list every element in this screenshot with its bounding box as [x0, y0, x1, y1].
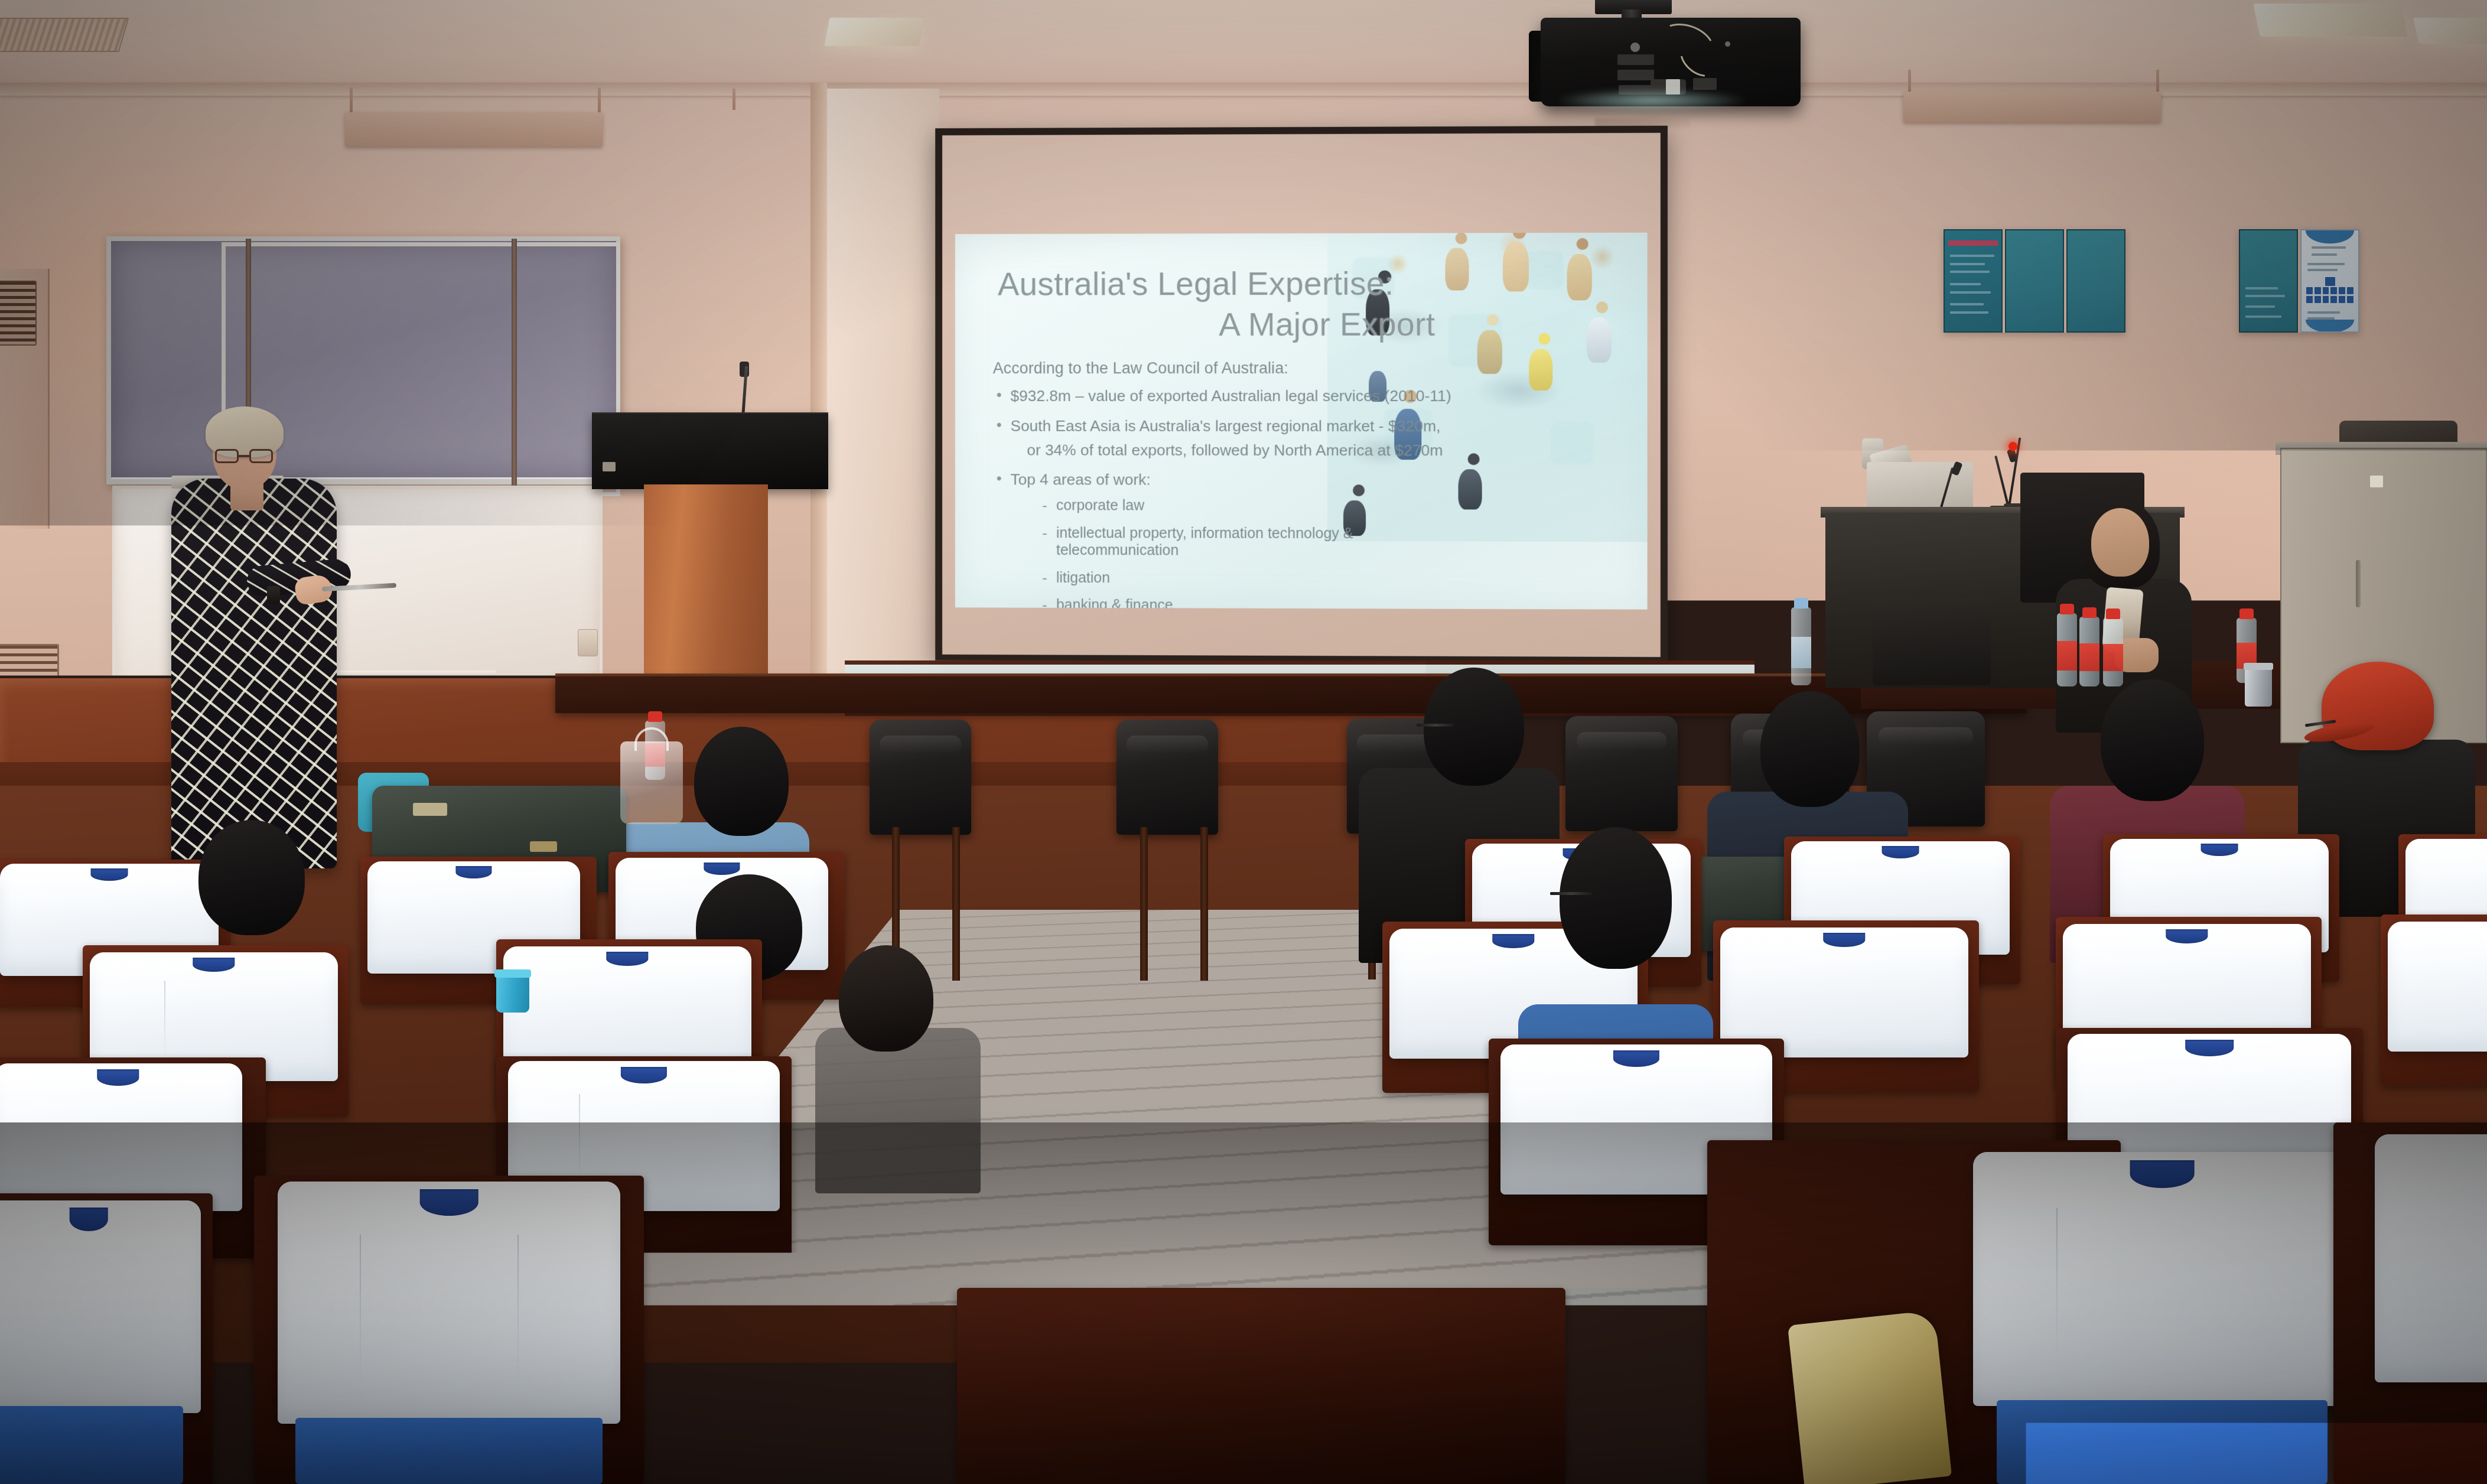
hanging-light-left	[345, 112, 603, 147]
ceiling-light-panel-right	[2253, 4, 2408, 37]
audience-dark-glasses	[1417, 724, 1454, 727]
seat-back-panel-center	[957, 1288, 1565, 1484]
poster-panel-3	[2066, 229, 2125, 333]
water-bottle-1[interactable]	[1791, 607, 1811, 685]
cabinet-label	[2370, 476, 2383, 487]
seat-cover-m4[interactable]	[1720, 927, 1968, 1057]
whiteboard-secondary-frame	[222, 242, 620, 496]
light-rod-b	[598, 87, 601, 115]
seated-host-head	[2091, 508, 2149, 577]
desk-microphone-led	[2009, 442, 2017, 451]
gold-paper-bag[interactable]	[1788, 1310, 1952, 1484]
slide-sub-item-4: banking & finance	[1041, 597, 1463, 610]
slide-title-line-1: Australia's Legal Expertise:	[998, 265, 1394, 302]
leather-chair-leg-2b	[1200, 827, 1208, 981]
slide-title-line-2: A Major Export	[998, 304, 1454, 346]
presenter-wristwatch	[267, 586, 280, 604]
lecture-hall-scene: Australia's Legal Expertise: A Major Exp…	[0, 0, 2487, 1484]
av-equipment-box	[1873, 597, 1991, 685]
presenter-glasses	[215, 449, 273, 464]
slide-intro-text: According to the Law Council of Australi…	[993, 359, 1449, 377]
projection-screen: Australia's Legal Expertise: A Major Exp…	[935, 126, 1668, 663]
air-conditioner-unit	[0, 269, 50, 529]
projection-screen-surface: Australia's Legal Expertise: A Major Exp…	[942, 133, 1661, 657]
ceiling	[0, 0, 2487, 89]
poster-group-right	[2239, 229, 2359, 333]
leather-chair-1[interactable]	[870, 720, 971, 835]
seat-cover-n1[interactable]	[0, 1063, 242, 1211]
water-bottle-2[interactable]	[2057, 613, 2077, 686]
wall-socket-left[interactable]	[578, 629, 598, 656]
slide-sub-list: corporate law intellectual property, inf…	[1041, 497, 1463, 610]
light-rod-e	[1908, 70, 1911, 93]
slide-bullet-2-text: South East Asia is Australia's largest r…	[1010, 416, 1440, 434]
water-bottle-3[interactable]	[2079, 617, 2099, 686]
poster-panel-4	[2239, 229, 2298, 333]
poster-panel-5	[2300, 229, 2359, 333]
presentation-slide: Australia's Legal Expertise: A Major Exp…	[955, 233, 1648, 610]
leather-chair-2[interactable]	[1116, 720, 1218, 835]
light-rod-c	[733, 89, 735, 110]
leather-chair-leg-1b	[952, 827, 960, 981]
leather-chair-4[interactable]	[1565, 716, 1678, 831]
poster-panel-1	[1944, 229, 2003, 333]
seat-cover-g1[interactable]	[0, 1200, 201, 1413]
ceiling-light-panel-left	[825, 18, 924, 46]
cabinet-handle[interactable]	[2356, 560, 2361, 607]
projector-port-power	[1693, 78, 1717, 90]
hanging-light-right	[1903, 92, 2161, 122]
wall-column	[827, 89, 939, 679]
slide-sub-item-2: intellectual property, information techn…	[1041, 525, 1463, 560]
slide-sub-item-3: litigation	[1041, 569, 1463, 588]
seat-cushion-g1	[0, 1406, 183, 1484]
audience-navy-head	[1760, 691, 1860, 807]
seat-cushion-g2	[295, 1418, 603, 1484]
seat-cover-m6[interactable]	[2388, 922, 2487, 1052]
slide-bullet-3-text: Top 4 areas of work:	[1010, 471, 1150, 489]
projector-port-hdmi	[1617, 70, 1654, 80]
audience-blue-head	[1560, 827, 1672, 969]
podium-badge	[603, 462, 616, 471]
slide-bullet-3: Top 4 areas of work: corporate law intel…	[993, 471, 1463, 610]
projector-light-beam	[1554, 89, 1749, 112]
slide-bullet-2-continuation: or 34% of total exports, followed by Nor…	[1010, 435, 1462, 460]
ac-vent-upper	[0, 281, 37, 346]
plastic-bag[interactable]	[620, 741, 683, 824]
slide-title: Australia's Legal Expertise: A Major Exp…	[998, 263, 1454, 345]
audience-maroon-head	[2101, 679, 2204, 801]
audience-grey-head	[839, 945, 933, 1052]
seat-cushion-g3	[1997, 1400, 2328, 1484]
water-bottle-4[interactable]	[2103, 618, 2123, 686]
slide-bullet-2: South East Asia is Australia's largest r…	[993, 416, 1463, 460]
slide-bullet-list: $932.8m – value of exported Australian l…	[993, 387, 1463, 609]
metal-tumbler[interactable]	[2245, 668, 2272, 707]
poster-panel-2	[2005, 229, 2064, 333]
slide-bullet-1-text: $932.8m – value of exported Australian l…	[1010, 387, 1451, 405]
presenter-dress	[171, 479, 337, 868]
seat-cover-g3[interactable]	[1973, 1152, 2351, 1406]
audience-grey-body	[815, 1028, 981, 1193]
blue-drink-cup[interactable]	[496, 975, 529, 1013]
poster-icon-grid	[2306, 287, 2354, 303]
podium-column	[644, 484, 768, 703]
slide-sub-item-1: corporate law	[1041, 497, 1463, 516]
light-rod-a	[350, 87, 353, 115]
podium-desktop	[592, 414, 828, 489]
seat-cover-g2[interactable]	[278, 1182, 620, 1424]
projector-port-vga	[1617, 54, 1654, 65]
light-rod-f	[2156, 70, 2159, 93]
poster-group-left	[1944, 229, 2125, 333]
audience-dark-head	[1424, 668, 1524, 786]
projector-indicator-led	[1725, 41, 1730, 47]
slide-bullet-1: $932.8m – value of exported Australian l…	[993, 387, 1463, 405]
audience-front-left-head	[198, 820, 305, 935]
leather-chair-leg-2	[1140, 827, 1148, 981]
ceiling-vent-left	[0, 18, 129, 52]
wall-column-edge	[810, 83, 827, 679]
seat-cover-g4[interactable]	[2375, 1134, 2487, 1382]
audience-denim-head	[694, 727, 789, 836]
projector-status-led	[1630, 43, 1640, 52]
ceiling-light-panel-far-right	[2413, 18, 2487, 44]
audience-blue-glasses	[1550, 892, 1593, 895]
